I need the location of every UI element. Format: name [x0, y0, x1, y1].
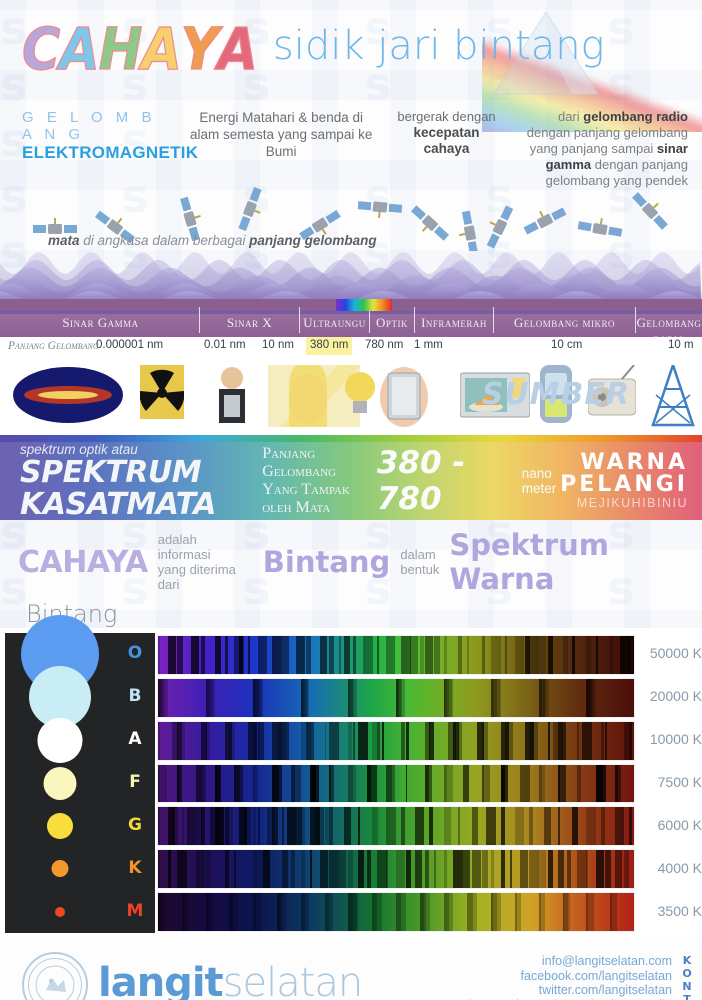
satellite-icon: [33, 218, 77, 234]
satellite-icon: [577, 214, 623, 237]
title-letter-2: H: [99, 22, 142, 77]
spectral-class-B: B: [115, 686, 155, 706]
spectral-class-K: K: [115, 858, 155, 878]
temperature-label-G: 6000 K: [640, 817, 702, 833]
satellite-caption: mata di angkasa dalam berbagai panjang g…: [48, 233, 377, 248]
temperature-label-B: 20000 K: [640, 688, 702, 704]
em-segment-3: Optik: [370, 315, 414, 331]
intro-col-range: dari gelombang radio dengan panjang gelo…: [517, 109, 688, 189]
spectral-class-F: F: [115, 772, 155, 792]
star-disc-M: [55, 907, 65, 917]
wavelength-row: Panjang Gelombang 0.000001 nm0.01 nm10 n…: [0, 337, 702, 357]
visible-spectrum-banner: spektrum optik atau SPEKTRUM KASATMATA P…: [0, 442, 702, 520]
optic-color-tab: [336, 299, 392, 311]
title-wrap: CAHAYA sidik jari bintang: [0, 0, 702, 77]
wavelength-value-5: 1 mm: [414, 339, 443, 351]
visible-spectrum-titles: spektrum optik atau SPEKTRUM KASATMATA: [0, 442, 262, 521]
spectral-class-G: G: [115, 815, 155, 835]
spektrum-warna-word: Spektrum Warna: [449, 528, 702, 596]
title-letter-4: Y: [181, 22, 218, 77]
caption-panjang-gelombang: panjang gelombang: [249, 233, 377, 248]
spectral-class-chart: OBAFGKM 50000 K20000 K10000 K7500 K6000 …: [0, 628, 702, 938]
contact-list: info@langitselatan.comfacebook.com/langi…: [462, 954, 672, 1000]
em-segment-2: Ultraungu: [300, 315, 369, 331]
spectral-class-column: OBAFGKM: [115, 633, 155, 933]
intro-row: G E L O M B A N G ELEKTROMAGNETIK Energi…: [0, 105, 702, 189]
satellite-wave-band: mata di angkasa dalam berbagai panjang g…: [0, 191, 702, 311]
spektrum-kasatmata-label: SPEKTRUM KASATMATA: [20, 457, 262, 521]
star-disc-G: [47, 813, 73, 839]
satellite-icon: [406, 205, 449, 246]
spectrum-row-M: [157, 892, 635, 932]
panjang-gelombang-label: Panjang Gelombang: [262, 445, 371, 481]
em-band-topline: [0, 311, 702, 314]
intro-radio-text: gelombang radio: [583, 109, 688, 124]
intro-bergerak-label: bergerak dengan: [390, 109, 502, 125]
spectrum-row-O: [157, 635, 635, 675]
spectrum-row-B: [157, 678, 635, 718]
kontak-vertical-label: KONTAK: [679, 954, 695, 1000]
intro-elektromagnetik-label: ELEKTROMAGNETIK: [22, 143, 172, 163]
unit-nano: nano: [522, 466, 560, 481]
spectrum-row-A: [157, 721, 635, 761]
dalam-bentuk-text: dalam bentuk: [400, 547, 439, 577]
bintang-word: Bintang: [263, 545, 391, 579]
star-disc-A: [38, 718, 83, 763]
spectrum-blackbody-dim: [158, 636, 634, 674]
brand-selatan: selatan: [223, 960, 363, 1000]
brand-wordmark: langitselatan: [98, 960, 362, 1000]
title-letter-5: A: [218, 22, 257, 77]
temperature-label-F: 7500 K: [640, 774, 702, 790]
em-divider-4: [493, 307, 494, 333]
source-icons-row: SUMBER: [0, 357, 702, 435]
intro-gelombang-label: G E L O M B A N G: [22, 109, 172, 143]
em-segment-0: Sinar Gamma: [2, 315, 199, 331]
footer: langitselatan info@langitselatan.comface…: [0, 938, 702, 1000]
light-bulb-icon: [340, 365, 380, 427]
star-size-column: [5, 633, 115, 933]
warna-label: WARNA: [560, 452, 688, 474]
spectral-class-A: A: [115, 729, 155, 749]
wavelength-value-2: 10 nm: [262, 339, 294, 351]
temperature-label-M: 3500 K: [640, 903, 702, 919]
em-spectrum-band: Sinar GammaSinar XUltraunguOptikInframer…: [0, 311, 702, 337]
logo-emblem: [24, 954, 86, 1000]
kontak-char: N: [679, 980, 695, 993]
wavelength-row-label: Panjang Gelombang: [8, 340, 99, 352]
spectral-class-M: M: [115, 901, 155, 921]
wavelength-visible-label: Panjang Gelombang Yang Tampak oleh Mata: [262, 445, 371, 517]
em-divider-5: [635, 307, 636, 333]
wavelength-value-4: 780 nm: [365, 339, 403, 351]
statements-block: CAHAYA adalah informasi yang diterima da…: [0, 520, 702, 628]
kontak-char: O: [679, 967, 695, 980]
contact-line-1[interactable]: facebook.com/langitselatan: [462, 969, 672, 984]
contact-line-2[interactable]: twitter.com/langitselatan: [462, 983, 672, 998]
visible-range-unit: nano meter: [522, 466, 560, 496]
intro-col-energy: Energi Matahari & benda di alam semesta …: [186, 109, 376, 189]
satellite-icon: [455, 210, 479, 251]
title-letter-3: A: [141, 22, 180, 77]
spektrum-optik-label: spektrum optik atau: [20, 442, 262, 457]
spectrum-row-K: [157, 849, 635, 889]
em-divider-0: [199, 307, 200, 333]
spectrum-blackbody-dim: [158, 765, 634, 803]
adalah-informasi-text: adalah informasi yang diterima dari: [158, 532, 253, 592]
spectrum-blackbody-dim: [158, 722, 634, 760]
satellite-icon: [357, 200, 402, 220]
caption-rest: di angkasa dalam berbagai: [80, 233, 250, 248]
intro-col-speed: bergerak dengan kecepatan cahaya: [390, 109, 502, 189]
star-disc-F: [44, 767, 77, 800]
em-segment-4: Inframerah: [415, 315, 493, 331]
wavelength-value-0: 0.000001 nm: [96, 339, 163, 351]
wavelength-value-1: 0.01 nm: [204, 339, 246, 351]
star-disc-K: [52, 860, 69, 877]
intro-col-electromagnetic: G E L O M B A N G ELEKTROMAGNETIK: [22, 109, 172, 189]
kontak-char: K: [679, 954, 695, 967]
pelangi-label: PELANGI: [560, 474, 688, 496]
temperature-label-A: 10000 K: [640, 731, 702, 747]
temperature-label-O: 50000 K: [640, 645, 702, 661]
spectrum-blackbody-dim: [158, 850, 634, 888]
kontak-char: T: [679, 993, 695, 1000]
em-segment-5: Gelombang mikro: [494, 315, 635, 331]
statement-row-1: CAHAYA adalah informasi yang diterima da…: [0, 528, 702, 596]
intro-kecepatan-label: kecepatan cahaya: [413, 125, 479, 156]
spectrum-row-F: [157, 764, 635, 804]
em-divider-1: [299, 307, 300, 333]
page-subtitle: sidik jari bintang: [273, 23, 605, 77]
wavelength-value-7: 10 m: [668, 339, 694, 351]
mejikuhibiniu-label: MEJIKUHIBINIU: [560, 496, 688, 510]
header: CAHAYA sidik jari bintang: [0, 0, 702, 105]
infographic-page: s s s s s s s s s s s s s s s s s s s s …: [0, 0, 702, 1000]
visible-range-value: 380 - 780: [377, 445, 514, 517]
temperature-label-K: 4000 K: [640, 860, 702, 876]
wavelength-value-6: 10 cm: [551, 339, 582, 351]
xray-child-icon: [208, 365, 256, 427]
brand-langit: langit: [98, 960, 223, 1000]
radio-tower-icon: [648, 365, 698, 427]
warna-pelangi-block: WARNA PELANGI MEJIKUHIBINIU: [560, 452, 702, 510]
title-letter-0: C: [22, 22, 59, 77]
infrared-heater-icon: [380, 365, 428, 427]
spectrum-blackbody-dim: [158, 807, 634, 845]
satellite-icon: [480, 202, 514, 249]
unit-meter: meter: [522, 481, 560, 496]
page-title: CAHAYA: [22, 22, 257, 77]
em-segment-1: Sinar X: [200, 315, 299, 331]
em-divider-3: [414, 307, 415, 333]
spectral-class-O: O: [115, 643, 155, 663]
langitselatan-logo-icon: [22, 952, 88, 1000]
spectrum-row-G: [157, 806, 635, 846]
satellite-icon: [520, 201, 566, 235]
wavelength-value-3: 380 nm: [310, 339, 348, 351]
spectrum-blackbody-dim: [158, 679, 634, 717]
contact-line-0[interactable]: info@langitselatan.com: [462, 954, 672, 969]
caption-mata: mata: [48, 233, 80, 248]
cahaya-word: CAHAYA: [18, 545, 148, 580]
satellite-icon: [631, 187, 673, 230]
sumber-label: SUMBER: [482, 377, 630, 412]
radiation-hazard-sign-icon: [140, 365, 184, 427]
title-letter-1: A: [59, 22, 98, 77]
spectrum-blackbody-dim: [158, 893, 634, 931]
gamma-ray-sky-map-icon: [12, 365, 124, 427]
intro-dari-text: dari: [558, 109, 583, 124]
satellite-icon: [237, 187, 268, 234]
tampak-mata-label: Yang Tampak oleh Mata: [262, 481, 371, 517]
